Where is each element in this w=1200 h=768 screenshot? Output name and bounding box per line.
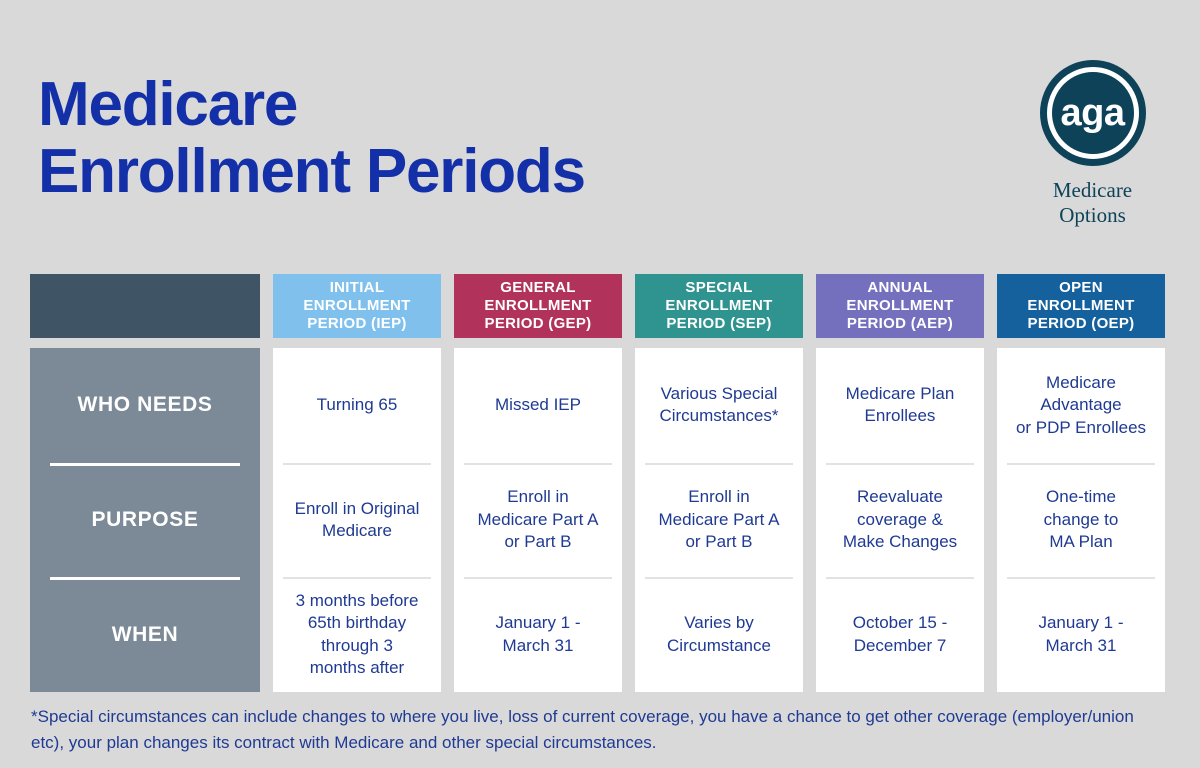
enrollment-periods-table: WHO NEEDS PURPOSE WHEN INITIAL ENROLLMEN… <box>30 274 1170 692</box>
column-header-aep: ANNUAL ENROLLMENT PERIOD (AEP) <box>816 274 984 338</box>
column-header-sep: SPECIAL ENROLLMENT PERIOD (SEP) <box>635 274 803 338</box>
footnote: *Special circumstances can include chang… <box>31 704 1141 756</box>
cell-gep-who-needs: Missed IEP <box>454 348 622 463</box>
column-sep: SPECIAL ENROLLMENT PERIOD (SEP) Various … <box>635 274 803 692</box>
column-body-sep: Various Special Circumstances* Enroll in… <box>635 348 803 692</box>
logo-subtitle: Medicare Options <box>1020 178 1165 228</box>
cell-gep-purpose: Enroll in Medicare Part A or Part B <box>454 463 622 578</box>
cell-oep-when: January 1 - March 31 <box>997 577 1165 692</box>
column-body-gep: Missed IEP Enroll in Medicare Part A or … <box>454 348 622 692</box>
cell-aep-when: October 15 - December 7 <box>816 577 984 692</box>
row-label-when: WHEN <box>30 577 260 692</box>
row-label-column-header <box>30 274 260 338</box>
row-label-purpose: PURPOSE <box>30 463 260 578</box>
infographic-header: Medicare Enrollment Periods aga Medicare… <box>0 0 1200 268</box>
column-iep: INITIAL ENROLLMENT PERIOD (IEP) Turning … <box>273 274 441 692</box>
column-body-aep: Medicare Plan Enrollees Reevaluate cover… <box>816 348 984 692</box>
column-body-iep: Turning 65 Enroll in Original Medicare 3… <box>273 348 441 692</box>
cell-oep-who-needs: Medicare Advantage or PDP Enrollees <box>997 348 1165 463</box>
column-gep: GENERAL ENROLLMENT PERIOD (GEP) Missed I… <box>454 274 622 692</box>
row-label-list: WHO NEEDS PURPOSE WHEN <box>30 348 260 692</box>
logo-circle-icon: aga <box>1040 60 1146 166</box>
column-header-oep: OPEN ENROLLMENT PERIOD (OEP) <box>997 274 1165 338</box>
cell-iep-when: 3 months before 65th birthday through 3 … <box>273 577 441 692</box>
column-oep: OPEN ENROLLMENT PERIOD (OEP) Medicare Ad… <box>997 274 1165 692</box>
row-label-column: WHO NEEDS PURPOSE WHEN <box>30 274 260 692</box>
cell-sep-purpose: Enroll in Medicare Part A or Part B <box>635 463 803 578</box>
cell-aep-who-needs: Medicare Plan Enrollees <box>816 348 984 463</box>
cell-sep-who-needs: Various Special Circumstances* <box>635 348 803 463</box>
cell-oep-purpose: One-time change to MA Plan <box>997 463 1165 578</box>
column-header-iep: INITIAL ENROLLMENT PERIOD (IEP) <box>273 274 441 338</box>
cell-sep-when: Varies by Circumstance <box>635 577 803 692</box>
cell-iep-purpose: Enroll in Original Medicare <box>273 463 441 578</box>
row-label-who-needs: WHO NEEDS <box>30 348 260 463</box>
logo: aga Medicare Options <box>1020 60 1165 228</box>
cell-gep-when: January 1 - March 31 <box>454 577 622 692</box>
column-aep: ANNUAL ENROLLMENT PERIOD (AEP) Medicare … <box>816 274 984 692</box>
column-body-oep: Medicare Advantage or PDP Enrollees One-… <box>997 348 1165 692</box>
logo-wordmark: aga <box>1040 60 1146 166</box>
column-header-gep: GENERAL ENROLLMENT PERIOD (GEP) <box>454 274 622 338</box>
cell-aep-purpose: Reevaluate coverage & Make Changes <box>816 463 984 578</box>
page-title: Medicare Enrollment Periods <box>38 72 738 206</box>
cell-iep-who-needs: Turning 65 <box>273 348 441 463</box>
